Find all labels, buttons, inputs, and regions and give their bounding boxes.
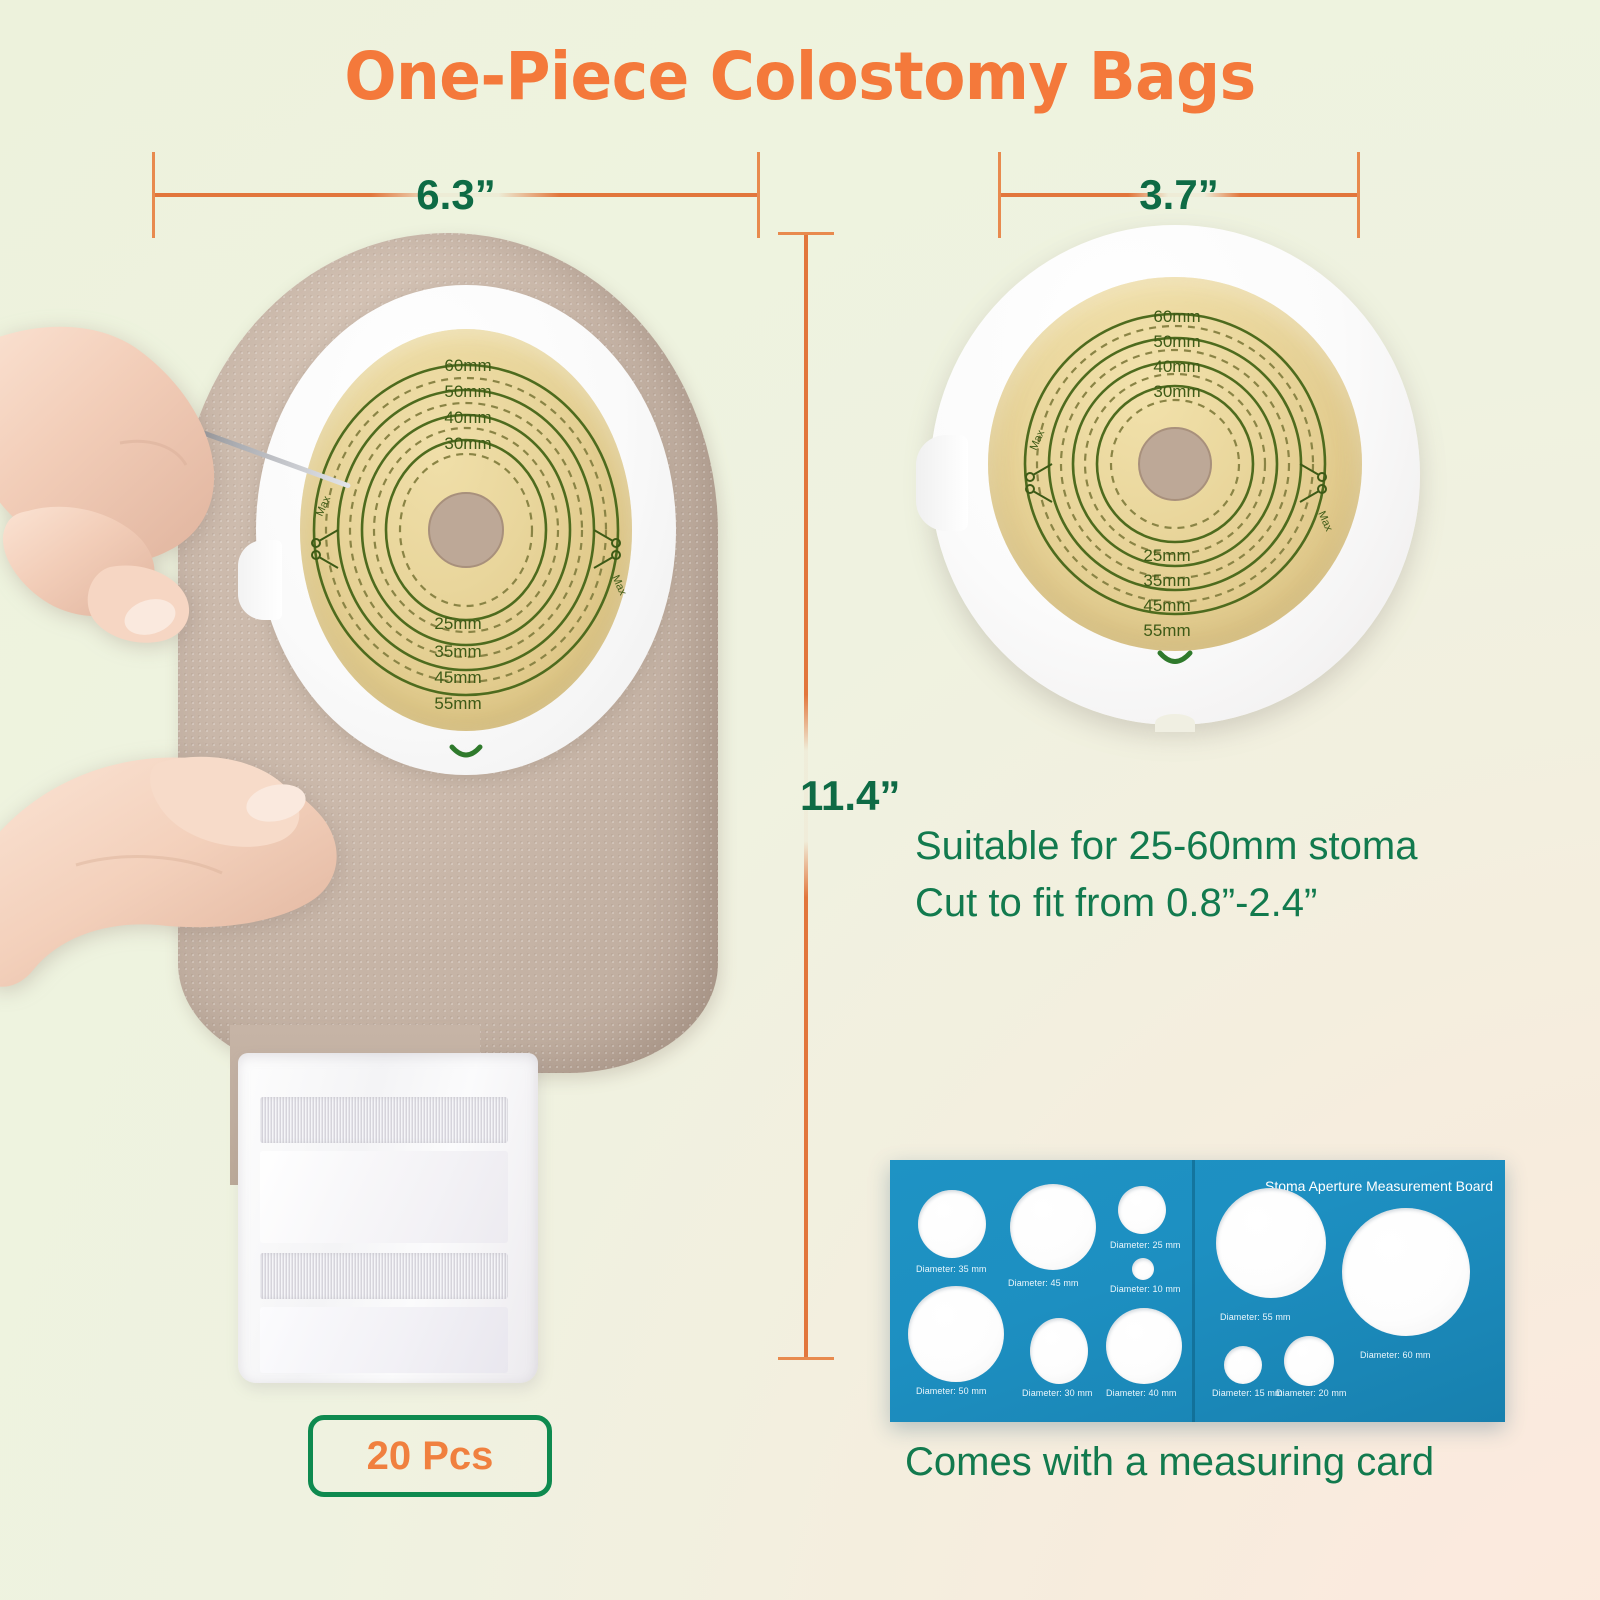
disc-ring-guide: 60mm 50mm 40mm 30mm 25mm 35mm 45mm 55mm … [930,225,1420,725]
dimension-bag-width: 6.3” [152,150,760,240]
disc-cut-marker-left: Max [1028,428,1048,452]
closure-panel-bottom [260,1307,508,1373]
hole-40mm [1106,1308,1182,1384]
cut-marker-right: Max [609,573,629,597]
hole-label-10mm: Diameter: 10 mm [1110,1284,1181,1294]
disc-ring-label-60: 60mm [1153,307,1200,326]
ring-label-55: 55mm [434,694,481,713]
disc-ring-label-45: 45mm [1143,596,1190,615]
disc-orientation-u-icon [1160,653,1190,662]
dimension-wafer-width: 3.7” [998,150,1360,240]
dimension-wafer-width-label: 3.7” [1125,171,1232,219]
ring-label-45: 45mm [434,668,481,687]
hole-20mm [1284,1336,1334,1386]
hole-35mm [918,1190,986,1258]
card-fold-line [1192,1160,1195,1422]
disc-cut-marker-right: Max [1315,509,1335,533]
hole-55mm [1216,1188,1326,1298]
hole-label-35mm: Diameter: 35 mm [916,1264,987,1274]
feature-text-block: Suitable for 25-60mm stoma Cut to fit fr… [915,818,1555,932]
hole-label-60mm: Diameter: 60 mm [1360,1350,1431,1360]
dimension-bag-height-label: 11.4” [800,772,900,820]
hole-15mm [1224,1346,1262,1384]
hand-holding-scissors [0,315,340,715]
ring-label-35: 35mm [434,642,481,661]
measuring-card-photo: Stoma Aperture Measurement Board Diamete… [890,1160,1505,1422]
hole-45mm [1010,1184,1096,1270]
closure-panel-middle [260,1151,508,1243]
hole-30mm [1030,1318,1088,1384]
dimension-bag-width-label: 6.3” [402,171,509,219]
hand-holding-pouch [0,725,410,1055]
stoma-measurement-board: Stoma Aperture Measurement Board Diamete… [890,1160,1505,1422]
wafer-disc-photo: 60mm 50mm 40mm 30mm 25mm 35mm 45mm 55mm … [930,225,1420,725]
quantity-badge-label: 20 Pcs [367,1434,494,1479]
hole-50mm [908,1286,1004,1382]
hole-label-30mm: Diameter: 30 mm [1022,1388,1093,1398]
ring-label-30: 30mm [444,434,491,453]
measuring-card-caption: Comes with a measuring card [905,1440,1434,1485]
hole-label-45mm: Diameter: 45 mm [1008,1278,1079,1288]
dimension-bag-height: 11.4” [778,232,834,1360]
ring-label-50: 50mm [444,382,491,401]
hole-10mm [1132,1258,1154,1280]
feature-line-stoma-size: Suitable for 25-60mm stoma [915,818,1555,875]
card-title: Stoma Aperture Measurement Board [1265,1178,1493,1194]
hole-label-55mm: Diameter: 55 mm [1220,1312,1291,1322]
disc-ring-label-55: 55mm [1143,621,1190,640]
pouch-drain-closure [238,1053,538,1383]
page-title: One-Piece Colostomy Bags [56,38,1544,115]
hole-60mm [1342,1208,1470,1336]
hole-label-25mm: Diameter: 25 mm [1110,1240,1181,1250]
feature-line-cut-to-fit: Cut to fit from 0.8”-2.4” [915,875,1555,932]
ring-label-60: 60mm [444,356,491,375]
hole-label-15mm: Diameter: 15 mm [1212,1388,1283,1398]
quantity-badge: 20 Pcs [308,1415,552,1497]
ring-label-25: 25mm [434,614,481,633]
disc-ring-label-25: 25mm [1143,546,1190,565]
disc-ring-label-35: 35mm [1143,571,1190,590]
disc-ring-label-50: 50mm [1153,332,1200,351]
ring-label-40: 40mm [444,408,491,427]
orientation-u-icon [452,747,480,755]
hole-label-20mm: Diameter: 20 mm [1276,1388,1347,1398]
hole-label-40mm: Diameter: 40 mm [1106,1388,1177,1398]
disc-ring-label-30: 30mm [1153,382,1200,401]
disc-ring-label-40: 40mm [1153,357,1200,376]
hole-25mm [1118,1186,1166,1234]
colostomy-bag-photo: 60mm 50mm 40mm 30mm 25mm 35mm 45mm 55mm … [60,215,760,1395]
hole-label-50mm: Diameter: 50 mm [916,1386,987,1396]
